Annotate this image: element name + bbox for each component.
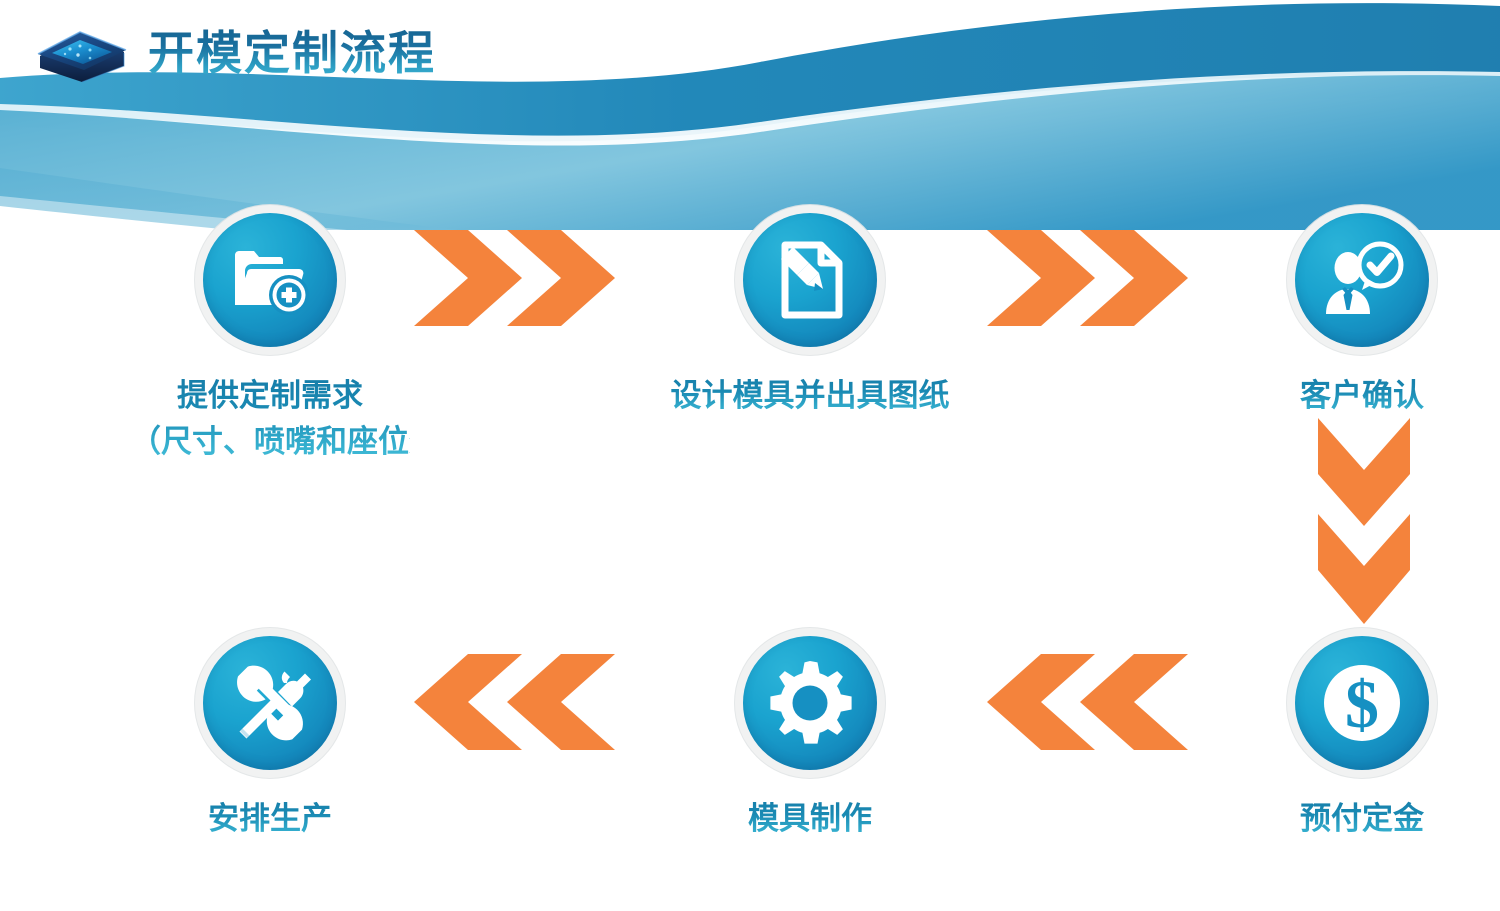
- double-chevron-left-icon: [412, 652, 617, 752]
- dollar-coin-icon: $: [1316, 657, 1408, 749]
- step-label-line1: 设计模具并出具图纸: [671, 378, 950, 413]
- step-label: 模具制作: [670, 796, 950, 842]
- flow-step-design-mold[interactable]: 设计模具并出具图纸: [670, 205, 950, 419]
- flow-step-mold-manufacture[interactable]: 模具制作: [670, 628, 950, 842]
- flow-step-provide-requirements[interactable]: 提供定制需求 （尺寸、喷嘴和座位数等）: [130, 205, 410, 465]
- svg-text:$: $: [1345, 666, 1379, 742]
- step-icon-circle: [735, 205, 885, 355]
- step-label: 提供定制需求 （尺寸、喷嘴和座位数等）: [130, 373, 410, 465]
- flow-step-prepay-deposit[interactable]: $ 预付定金: [1222, 628, 1500, 842]
- flow-step-arrange-production[interactable]: 安排生产: [130, 628, 410, 842]
- step-icon-circle: [195, 628, 345, 778]
- person-check-bubble-icon: [1318, 238, 1406, 322]
- step-label-line1: 客户确认: [1300, 378, 1424, 413]
- step-label-line1: 模具制作: [748, 801, 872, 836]
- step-label-line1: 安排生产: [208, 801, 332, 836]
- step-label-line2: （尺寸、喷嘴和座位数等）: [130, 419, 410, 465]
- connector-chevron-right-2: [985, 228, 1190, 328]
- step-label: 客户确认: [1222, 373, 1500, 419]
- process-flow-diagram: 提供定制需求 （尺寸、喷嘴和座位数等）: [0, 0, 1500, 911]
- document-pencil-icon: [769, 239, 851, 321]
- step-label-line1: 提供定制需求: [177, 378, 363, 413]
- connector-chevron-left-2: [412, 652, 617, 752]
- step-icon-circle: [195, 205, 345, 355]
- wrench-hammer-icon: [226, 659, 314, 747]
- step-icon-circle: [735, 628, 885, 778]
- hot-tub-product-icon: [28, 22, 134, 86]
- step-label-line1: 预付定金: [1300, 801, 1424, 836]
- connector-chevron-down: [1316, 416, 1412, 628]
- flow-step-customer-confirm[interactable]: 客户确认: [1222, 205, 1500, 419]
- page-title: 开模定制流程: [148, 22, 436, 84]
- double-chevron-left-icon: [985, 652, 1190, 752]
- step-label: 安排生产: [130, 796, 410, 842]
- step-icon-circle: [1287, 205, 1437, 355]
- slide-canvas: 开模定制流程: [0, 0, 1500, 911]
- step-icon-circle: $: [1287, 628, 1437, 778]
- double-chevron-down-icon: [1316, 416, 1412, 628]
- gear-icon: [764, 657, 856, 749]
- connector-chevron-right-1: [412, 228, 617, 328]
- connector-chevron-left-1: [985, 652, 1190, 752]
- step-label: 设计模具并出具图纸: [670, 373, 950, 419]
- folder-add-icon: [227, 237, 313, 323]
- double-chevron-right-icon: [412, 228, 617, 328]
- double-chevron-right-icon: [985, 228, 1190, 328]
- step-label: 预付定金: [1222, 796, 1500, 842]
